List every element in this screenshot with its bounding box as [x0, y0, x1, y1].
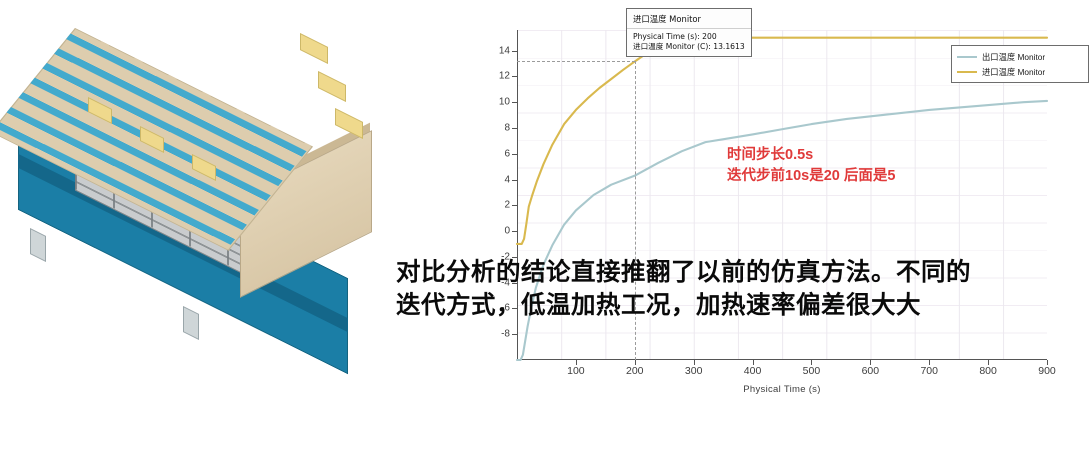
- tooltip-temp-value: 进口温度 Monitor (C): 13.1613: [633, 42, 745, 52]
- legend-label-outlet: 出口温度 Monitor: [982, 51, 1045, 63]
- x-axis-title: Physical Time (s): [517, 384, 1047, 395]
- caption-line-2: 迭代方式，低温加热工况，加热速率偏差很大大: [396, 290, 971, 323]
- legend-swatch-outlet: [957, 56, 977, 58]
- caption-line-1: 对比分析的结论直接推翻了以前的仿真方法。不同的: [396, 257, 971, 290]
- x-axis-tick-label: 200: [626, 365, 644, 377]
- legend-item-inlet-temp[interactable]: 进口温度 Monitor: [957, 64, 1083, 79]
- datapoint-tooltip: 进口温度 Monitor Physical Time (s): 200 进口温度…: [626, 8, 752, 57]
- tooltip-header: 进口温度 Monitor: [627, 9, 751, 29]
- tray-mount-bracket: [30, 228, 46, 262]
- slide-caption: 对比分析的结论直接推翻了以前的仿真方法。不同的 迭代方式，低温加热工况，加热速率…: [396, 257, 971, 323]
- x-axis-tick-label: 100: [567, 365, 585, 377]
- y-axis-tick-label: 8: [504, 122, 510, 133]
- legend-item-outlet-temp[interactable]: 出口温度 Monitor: [957, 49, 1083, 64]
- x-axis-tick-label: 800: [979, 365, 997, 377]
- y-axis-tick-label: 12: [499, 71, 510, 82]
- cursor-horizontal-line: [517, 61, 635, 62]
- legend-swatch-inlet: [957, 71, 977, 73]
- tooltip-time-value: Physical Time (s): 200: [633, 32, 745, 42]
- y-axis-tick-label: 10: [499, 97, 510, 108]
- x-axis-tick-label: 400: [744, 365, 762, 377]
- battery-pack-3d-render: [0, 0, 470, 465]
- y-axis-tick-label: 2: [504, 200, 510, 211]
- tray-mount-bracket: [183, 306, 199, 340]
- x-axis-tick-label: 900: [1038, 365, 1056, 377]
- y-axis-tick-label: -8: [501, 329, 510, 340]
- y-axis-tick-label: 14: [499, 45, 510, 56]
- legend-label-inlet: 进口温度 Monitor: [982, 66, 1045, 78]
- annotation-line-2: 迭代步前10s是20 后面是5: [727, 166, 895, 187]
- y-axis-tick-label: 0: [504, 226, 510, 237]
- annotation-line-1: 时间步长0.5s: [727, 145, 895, 166]
- x-axis-tick-label: 700: [920, 365, 938, 377]
- chart-legend: 出口温度 Monitor 进口温度 Monitor: [951, 45, 1089, 83]
- y-axis-tick-label: 4: [504, 174, 510, 185]
- x-axis-tick-label: 500: [803, 365, 821, 377]
- busbar-tab: [300, 33, 328, 64]
- y-axis-tick-label: 6: [504, 148, 510, 159]
- red-annotation: 时间步长0.5s 迭代步前10s是20 后面是5: [727, 145, 895, 186]
- x-axis-tick-label: 600: [862, 365, 880, 377]
- busbar-tab: [318, 71, 346, 102]
- x-axis-tick-label: 300: [685, 365, 703, 377]
